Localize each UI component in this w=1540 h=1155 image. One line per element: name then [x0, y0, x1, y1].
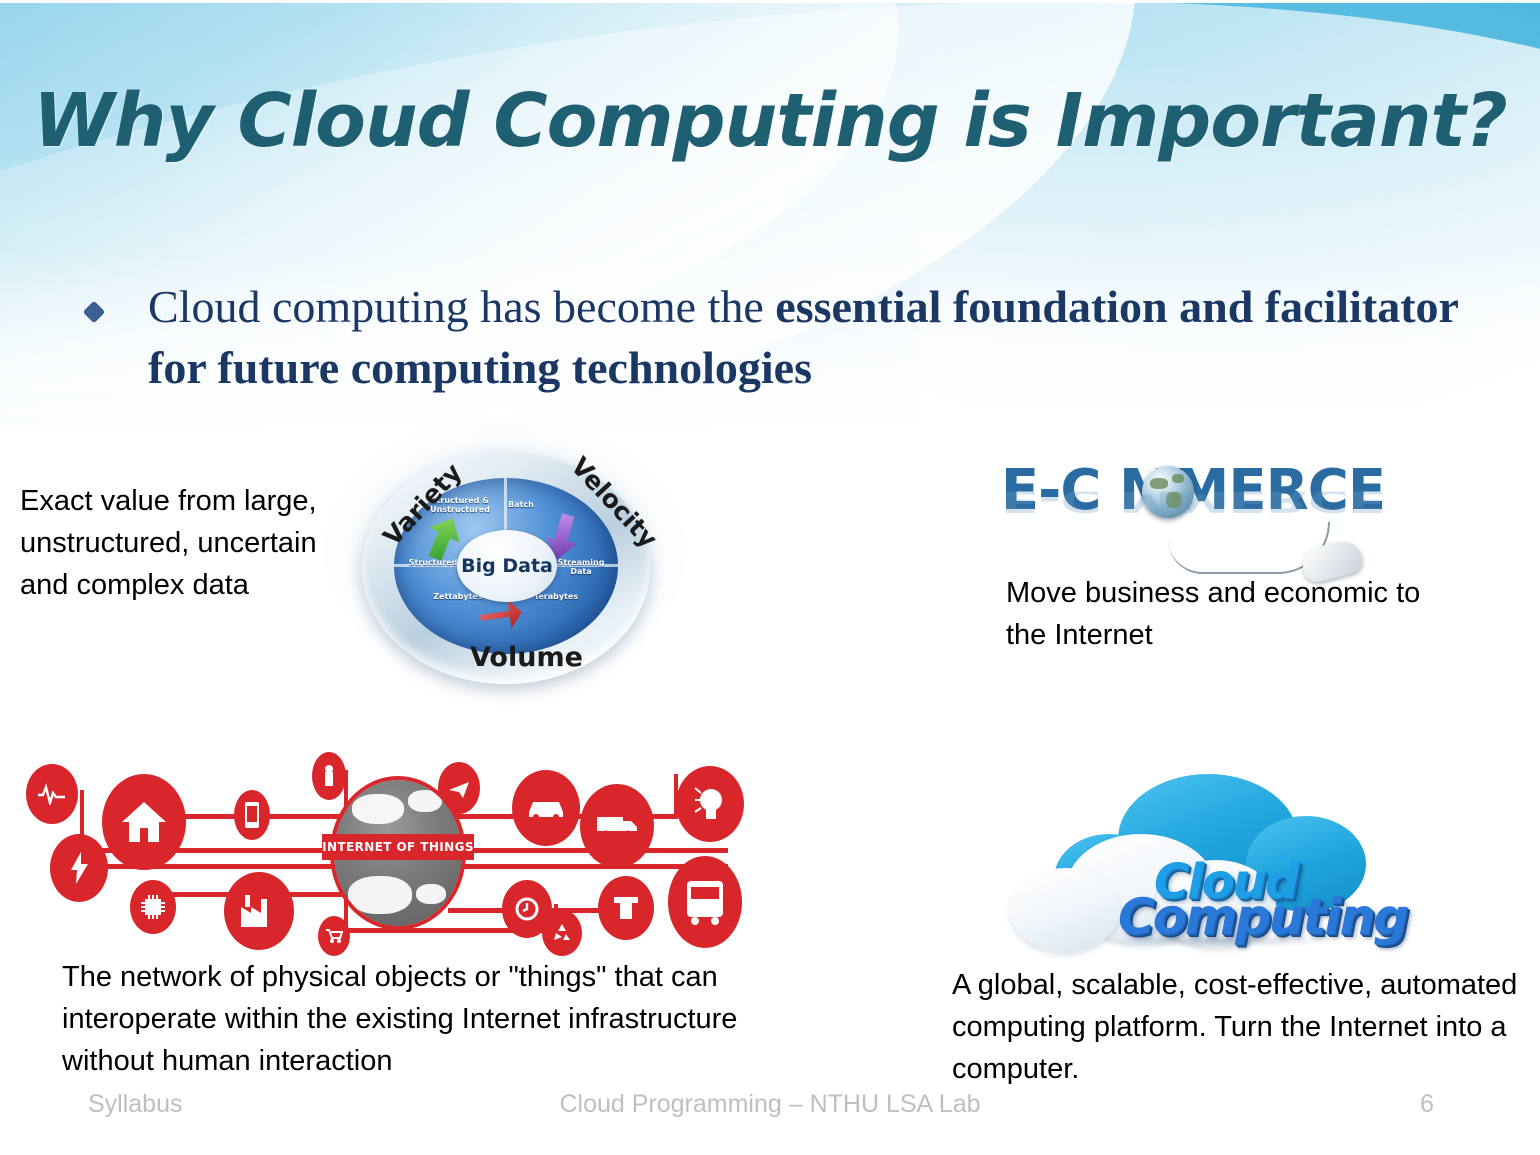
ecommerce-image: E-C MMERCE E-C MMERCE: [962, 452, 1424, 582]
big-data-3v-image: Structured & Unstructured Batch Structur…: [322, 424, 688, 688]
smartphone-icon: [234, 790, 270, 840]
iot-caption: The network of physical objects or "thin…: [62, 956, 802, 1082]
bullet-marker-icon: [83, 301, 106, 324]
top-hairline: [0, 0, 1540, 3]
factory-icon: [224, 872, 294, 950]
cloud-caption: A global, scalable, cost-effective, auto…: [952, 964, 1532, 1090]
water-tap-icon: [598, 876, 654, 940]
big-data-center-text: Big Data: [461, 557, 553, 576]
lightning-bolt-icon: [50, 834, 108, 902]
cloud-computing-image: Cloud Computing: [958, 756, 1428, 968]
shopping-cart-icon: [318, 916, 350, 956]
iot-connector-line: [78, 864, 348, 869]
house-icon: [102, 774, 186, 870]
microchip-icon: [130, 880, 176, 934]
slide-title: Why Cloud Computing is Important?: [0, 78, 1540, 164]
truck-icon: [580, 784, 654, 868]
big-data-label-structured: Structured: [408, 558, 458, 567]
lightbulb-icon: [676, 766, 744, 842]
big-data-caption: Exact value from large, unstructured, un…: [20, 480, 330, 606]
big-data-ring-label-volume: Volume: [470, 642, 583, 673]
footer-page-number: 6: [1420, 1090, 1434, 1119]
bus-icon: [668, 856, 742, 948]
car-icon: [512, 770, 580, 846]
heartbeat-icon: [26, 764, 78, 824]
slide-canvas: Why Cloud Computing is Important? Cloud …: [0, 0, 1540, 1155]
ecommerce-caption: Move business and economic to the Intern…: [1006, 572, 1426, 656]
ecommerce-reflection: E-C MMERCE: [962, 492, 1424, 518]
cloud-text-line2: Computing: [1118, 888, 1407, 946]
footer-center-label: Cloud Programming – NTHU LSA Lab: [0, 1090, 1540, 1119]
bullet-text-normal: Cloud computing has become the: [148, 281, 775, 332]
bullet-item: Cloud computing has become the essential…: [86, 276, 1506, 398]
hydrant-icon: [312, 752, 346, 800]
internet-of-things-image: INTERNET OF THINGS: [18, 752, 762, 954]
big-data-label-streaming-data: Streaming Data: [548, 558, 614, 576]
bullet-text: Cloud computing has become the essential…: [148, 276, 1506, 398]
recycle-icon: [542, 910, 582, 956]
big-data-center-label: Big Data: [457, 530, 557, 602]
big-data-label-batch: Batch: [500, 500, 542, 509]
iot-globe-banner: INTERNET OF THINGS: [322, 834, 474, 860]
